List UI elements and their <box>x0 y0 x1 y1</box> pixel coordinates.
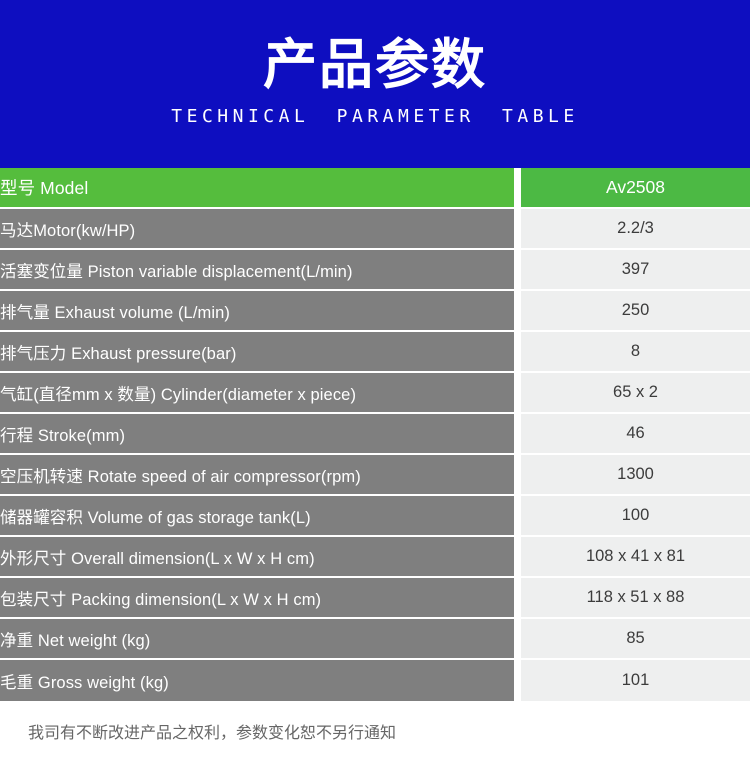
row-value: 65 x 2 <box>521 373 750 414</box>
title-banner: 产品参数 TECHNICAL PARAMETER TABLE <box>0 0 750 168</box>
row-label: 排气压力 Exhaust pressure(bar) <box>0 332 521 373</box>
row-value: 85 <box>521 619 750 660</box>
table-row: 马达Motor(kw/HP) 2.2/3 <box>0 209 750 250</box>
row-value: 250 <box>521 291 750 332</box>
table-row: 排气量 Exhaust volume (L/min) 250 <box>0 291 750 332</box>
row-label: 包装尺寸 Packing dimension(L x W x H cm) <box>0 578 521 619</box>
row-label: 储器罐容积 Volume of gas storage tank(L) <box>0 496 521 537</box>
row-value: 100 <box>521 496 750 537</box>
row-value: 46 <box>521 414 750 455</box>
table-row: 排气压力 Exhaust pressure(bar) 8 <box>0 332 750 373</box>
specification-table: 型号 Model Av2508 马达Motor(kw/HP) 2.2/3 活塞变… <box>0 168 750 701</box>
table-row: 包装尺寸 Packing dimension(L x W x H cm) 118… <box>0 578 750 619</box>
table-header-row: 型号 Model Av2508 <box>0 168 750 209</box>
table-row: 空压机转速 Rotate speed of air compressor(rpm… <box>0 455 750 496</box>
table-row: 行程 Stroke(mm) 46 <box>0 414 750 455</box>
table-row: 外形尺寸 Overall dimension(L x W x H cm) 108… <box>0 537 750 578</box>
row-value: 101 <box>521 660 750 701</box>
row-value: 2.2/3 <box>521 209 750 250</box>
row-label: 外形尺寸 Overall dimension(L x W x H cm) <box>0 537 521 578</box>
table-row: 毛重 Gross weight (kg) 101 <box>0 660 750 701</box>
page-title: 产品参数 <box>0 36 750 94</box>
table-row: 气缸(直径mm x 数量) Cylinder(diameter x piece)… <box>0 373 750 414</box>
row-value: 108 x 41 x 81 <box>521 537 750 578</box>
row-value: 1300 <box>521 455 750 496</box>
table-body: 型号 Model Av2508 马达Motor(kw/HP) 2.2/3 活塞变… <box>0 168 750 701</box>
table-row: 储器罐容积 Volume of gas storage tank(L) 100 <box>0 496 750 537</box>
row-label: 活塞变位量 Piston variable displacement(L/min… <box>0 250 521 291</box>
table-row: 活塞变位量 Piston variable displacement(L/min… <box>0 250 750 291</box>
row-label: 行程 Stroke(mm) <box>0 414 521 455</box>
header-label-cell: 型号 Model <box>0 168 521 209</box>
header-value-cell: Av2508 <box>521 168 750 209</box>
row-label: 空压机转速 Rotate speed of air compressor(rpm… <box>0 455 521 496</box>
footer-disclaimer: 我司有不断改进产品之权利，参数变化恕不另行通知 <box>0 723 750 745</box>
row-value: 118 x 51 x 88 <box>521 578 750 619</box>
row-label: 马达Motor(kw/HP) <box>0 209 521 250</box>
row-label: 气缸(直径mm x 数量) Cylinder(diameter x piece) <box>0 373 521 414</box>
page-subtitle: TECHNICAL PARAMETER TABLE <box>0 106 750 128</box>
row-label: 净重 Net weight (kg) <box>0 619 521 660</box>
row-label: 毛重 Gross weight (kg) <box>0 660 521 701</box>
row-value: 8 <box>521 332 750 373</box>
row-value: 397 <box>521 250 750 291</box>
table-row: 净重 Net weight (kg) 85 <box>0 619 750 660</box>
product-parameter-page: 产品参数 TECHNICAL PARAMETER TABLE 型号 Model … <box>0 0 750 767</box>
row-label: 排气量 Exhaust volume (L/min) <box>0 291 521 332</box>
